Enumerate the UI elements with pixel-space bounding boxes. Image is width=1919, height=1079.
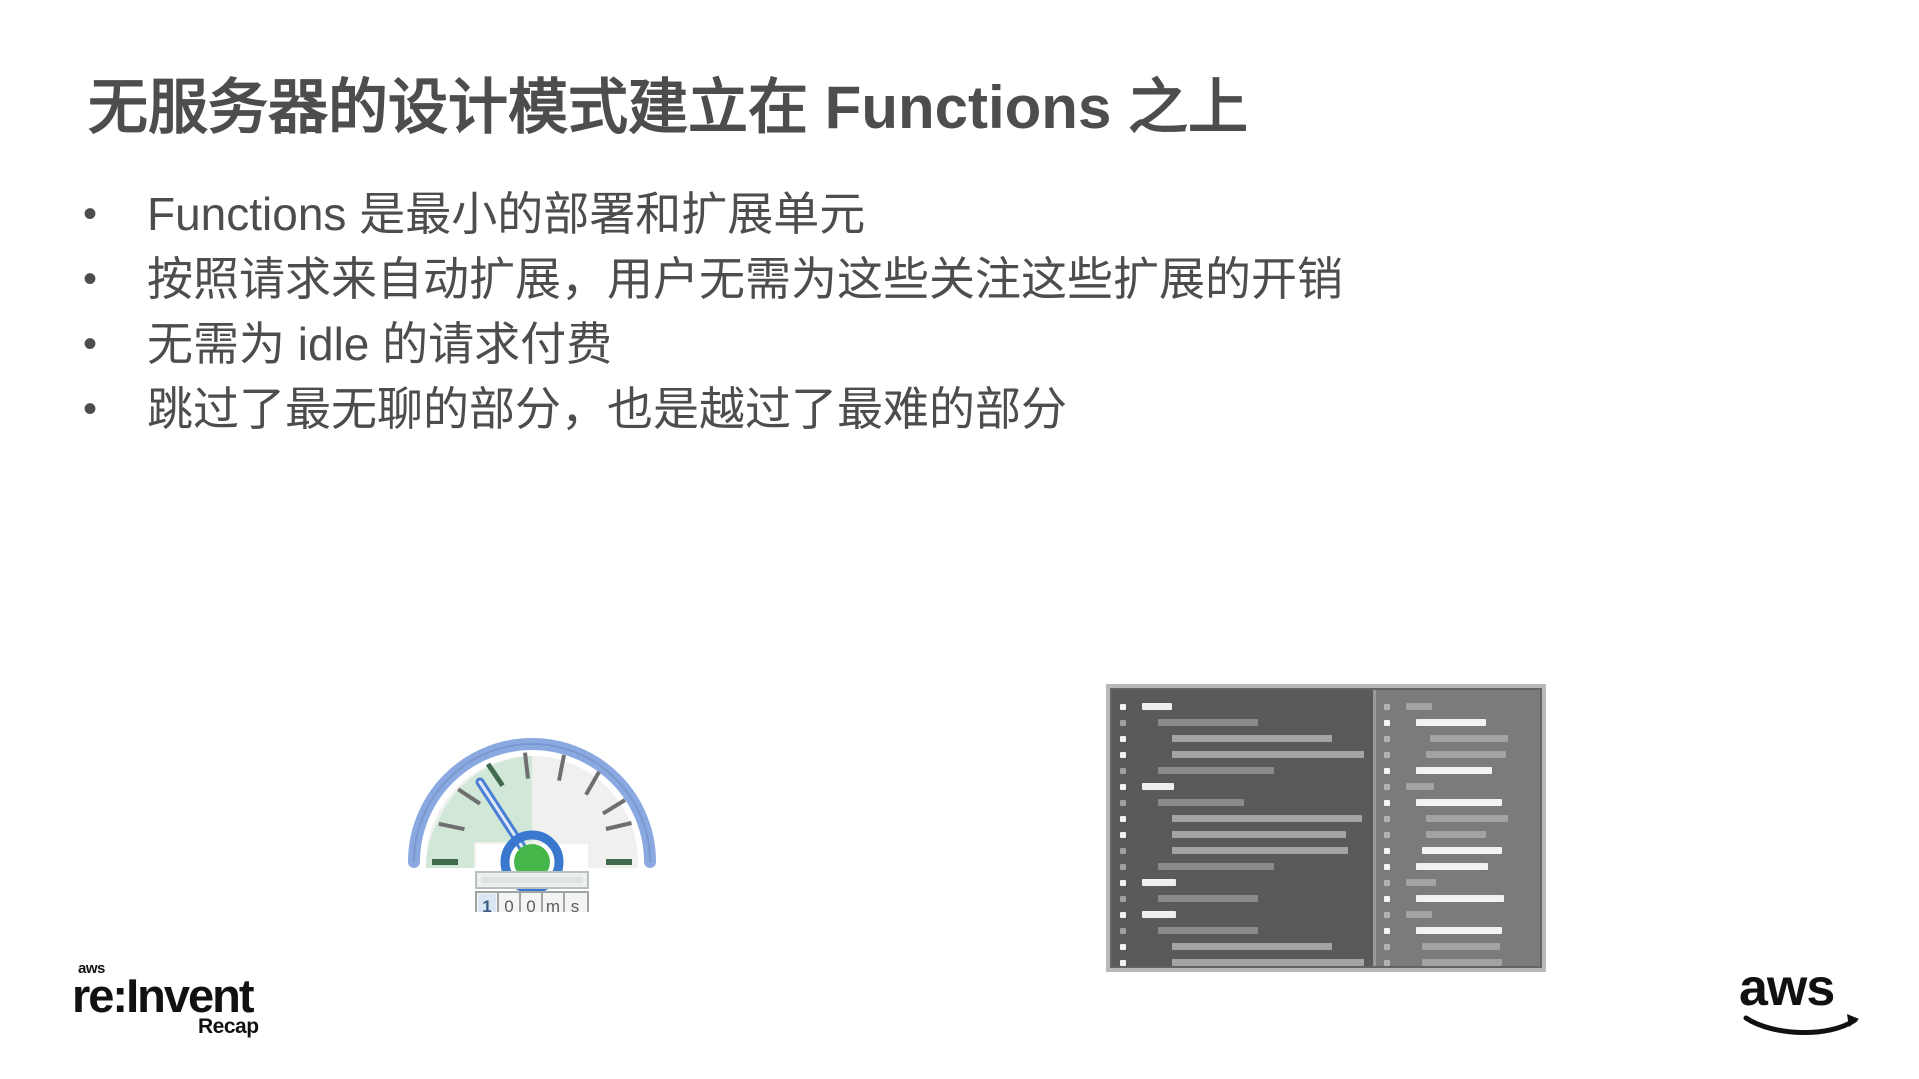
list-item: • 无需为 idle 的请求付费: [75, 316, 1835, 374]
bullet-text: 无需为 idle 的请求付费: [147, 316, 1571, 374]
code-pane-right: [1373, 690, 1540, 966]
svg-text:0: 0: [526, 897, 535, 912]
aws-swoosh-icon: [1743, 1012, 1869, 1038]
bullet-marker-icon: •: [75, 251, 147, 309]
svg-text:s: s: [571, 897, 580, 912]
bullet-marker-icon: •: [75, 316, 147, 374]
reinvent-wordmark: re:Invent: [72, 972, 253, 1019]
list-item: • 跳过了最无聊的部分，也是越过了最难的部分: [75, 381, 1835, 439]
svg-text:m: m: [546, 897, 560, 912]
list-item: • 按照请求来自动扩展，用户无需为这些关注这些扩展的开销: [75, 251, 1835, 309]
svg-text:1: 1: [482, 897, 491, 912]
aws-logo: aws: [1739, 962, 1879, 1038]
reinvent-recap-label: Recap: [198, 1016, 259, 1037]
svg-text:0: 0: [504, 897, 513, 912]
bullet-text: 按照请求来自动扩展，用户无需为这些关注这些扩展的开销: [147, 251, 1571, 309]
code-pane-left: [1112, 690, 1373, 966]
page-title: 无服务器的设计模式建立在 Functions 之上: [88, 74, 1788, 141]
bullet-marker-icon: •: [75, 186, 147, 244]
speedometer-gauge-icon: 1 0 0 m s: [392, 672, 672, 912]
bullet-marker-icon: •: [75, 381, 147, 439]
slide-canvas: 无服务器的设计模式建立在 Functions 之上 • Functions 是最…: [0, 0, 1919, 1079]
list-item: • Functions 是最小的部署和扩展单元: [75, 186, 1835, 244]
code-editor-panes: [1110, 688, 1542, 968]
reinvent-logo: aws re:Invent Recap: [72, 962, 327, 1040]
gauge-readout: 1 0 0 m s: [476, 892, 588, 912]
aws-wordmark: aws: [1739, 962, 1834, 1014]
bullet-text: Functions 是最小的部署和扩展单元: [147, 186, 1571, 244]
bullet-text: 跳过了最无聊的部分，也是越过了最难的部分: [147, 381, 1571, 439]
bullet-list: • Functions 是最小的部署和扩展单元 • 按照请求来自动扩展，用户无需…: [75, 186, 1835, 446]
code-editor-icon: [1106, 684, 1546, 972]
